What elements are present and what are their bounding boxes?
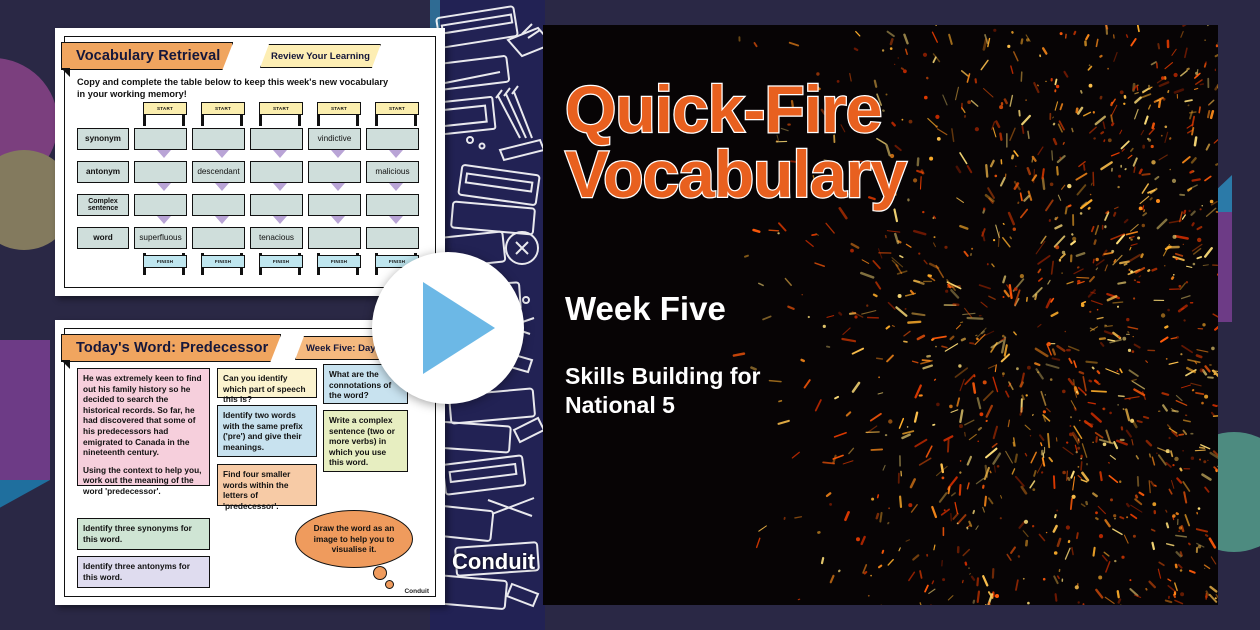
table-cell[interactable]: tenacious [250,227,303,249]
part-of-speech-box: Can you identify which part of speech th… [217,368,317,398]
draw-word-bubble: Draw the word as an image to help you to… [295,510,413,568]
bubble-dot-small [385,580,394,589]
start-flag: START [251,102,309,128]
down-arrow-icon [273,216,287,224]
down-arrow-icon [157,150,171,158]
prefix-task-box: Identify two words with the same prefix … [217,405,317,457]
table-cell[interactable] [134,128,187,150]
synonyms-task-box: Identify three synonyms for this word. [77,518,210,550]
table-cell[interactable] [250,194,303,216]
hero-watermark: Conduit [452,549,535,575]
slide2-title-ribbon: Today's Word: Predecessor [61,334,281,362]
hero-subtitle: Week Five [565,290,726,328]
table-cell[interactable] [308,194,361,216]
slide-vocabulary-retrieval[interactable]: Vocabulary Retrieval Review Your Learnin… [55,28,445,296]
hero-title: Quick-Fire Vocabulary [565,77,1035,206]
arrow-row [135,216,425,227]
retrieval-table: STARTSTARTSTARTSTARTSTART synonymvindict… [77,102,425,275]
table-cell[interactable]: descendant [192,161,245,183]
table-cell[interactable]: vindictive [308,128,361,150]
row-label: word [77,227,129,249]
down-arrow-icon [389,216,403,224]
slide1-instruction: Copy and complete the table below to kee… [77,76,397,101]
arrow-row [135,183,425,194]
table-cell[interactable] [192,194,245,216]
table-row: synonymvindictive [77,128,425,150]
table-cell[interactable] [134,161,187,183]
row-label: synonym [77,128,129,150]
slide1-ribbon-tail [61,68,70,77]
smaller-words-box: Find four smaller words within the lette… [217,464,317,506]
down-arrow-icon [273,183,287,191]
down-arrow-icon [215,183,229,191]
bubble-dot-large [373,566,387,580]
table-row: Complex sentence [77,194,425,216]
down-arrow-icon [273,150,287,158]
table-cell[interactable] [308,161,361,183]
down-arrow-icon [389,150,403,158]
start-flag: START [309,102,367,128]
table-cell[interactable] [192,227,245,249]
table-cell[interactable] [250,128,303,150]
table-cell[interactable] [366,128,419,150]
antonyms-task-box: Identify three antonyms for this word. [77,556,210,588]
hero-slide[interactable]: Quick-Fire Vocabulary Week Five Skills B… [543,25,1218,605]
down-arrow-icon [331,183,345,191]
finish-flag: FINISH [251,249,309,275]
table-cell[interactable] [366,227,419,249]
table-row: antonymdescendantmalicious [77,161,425,183]
table-cell[interactable] [250,161,303,183]
arrow-row [135,150,425,161]
start-flag: START [193,102,251,128]
down-arrow-icon [331,216,345,224]
finish-flag: FINISH [135,249,193,275]
slide1-title: Vocabulary Retrieval [76,48,220,64]
slideshow-preview: Vocabulary Retrieval Review Your Learnin… [0,0,1260,630]
down-arrow-icon [157,183,171,191]
table-cell[interactable]: superfluous [134,227,187,249]
down-arrow-icon [215,216,229,224]
finish-flag-row: FINISHFINISHFINISHFINISHFINISH [135,249,425,275]
finish-flag: FINISH [309,249,367,275]
row-label: antonym [77,161,129,183]
start-flag: START [135,102,193,128]
hero-subtitle-secondary: Skills Building for National 5 [565,362,835,421]
table-row: wordsuperfluoustenacious [77,227,425,249]
slide2-watermark: Conduit [404,588,429,595]
complex-sentence-box: Write a complex sentence (two or more ve… [323,410,408,472]
row-label: Complex sentence [77,194,129,216]
down-arrow-icon [331,150,345,158]
table-cell[interactable] [366,194,419,216]
slide1-title-ribbon: Vocabulary Retrieval [61,42,233,70]
start-flag: START [367,102,425,128]
slide2-title: Today's Word: Predecessor [76,340,268,356]
retrieval-table-body: synonymvindictiveantonymdescendantmalici… [77,128,425,249]
down-arrow-icon [157,216,171,224]
table-cell[interactable] [134,194,187,216]
down-arrow-icon [215,150,229,158]
slide1-badge: Review Your Learning [260,44,381,68]
table-cell[interactable] [192,128,245,150]
play-triangle-icon [423,282,495,374]
down-arrow-icon [389,183,403,191]
table-cell[interactable] [308,227,361,249]
start-flag-row: STARTSTARTSTARTSTARTSTART [135,102,425,128]
slide2-ribbon-tail [61,360,70,369]
finish-flag: FINISH [193,249,251,275]
context-passage-box: He was extremely keen to find out his fa… [77,368,210,486]
table-cell[interactable]: malicious [366,161,419,183]
play-button[interactable] [372,252,524,404]
